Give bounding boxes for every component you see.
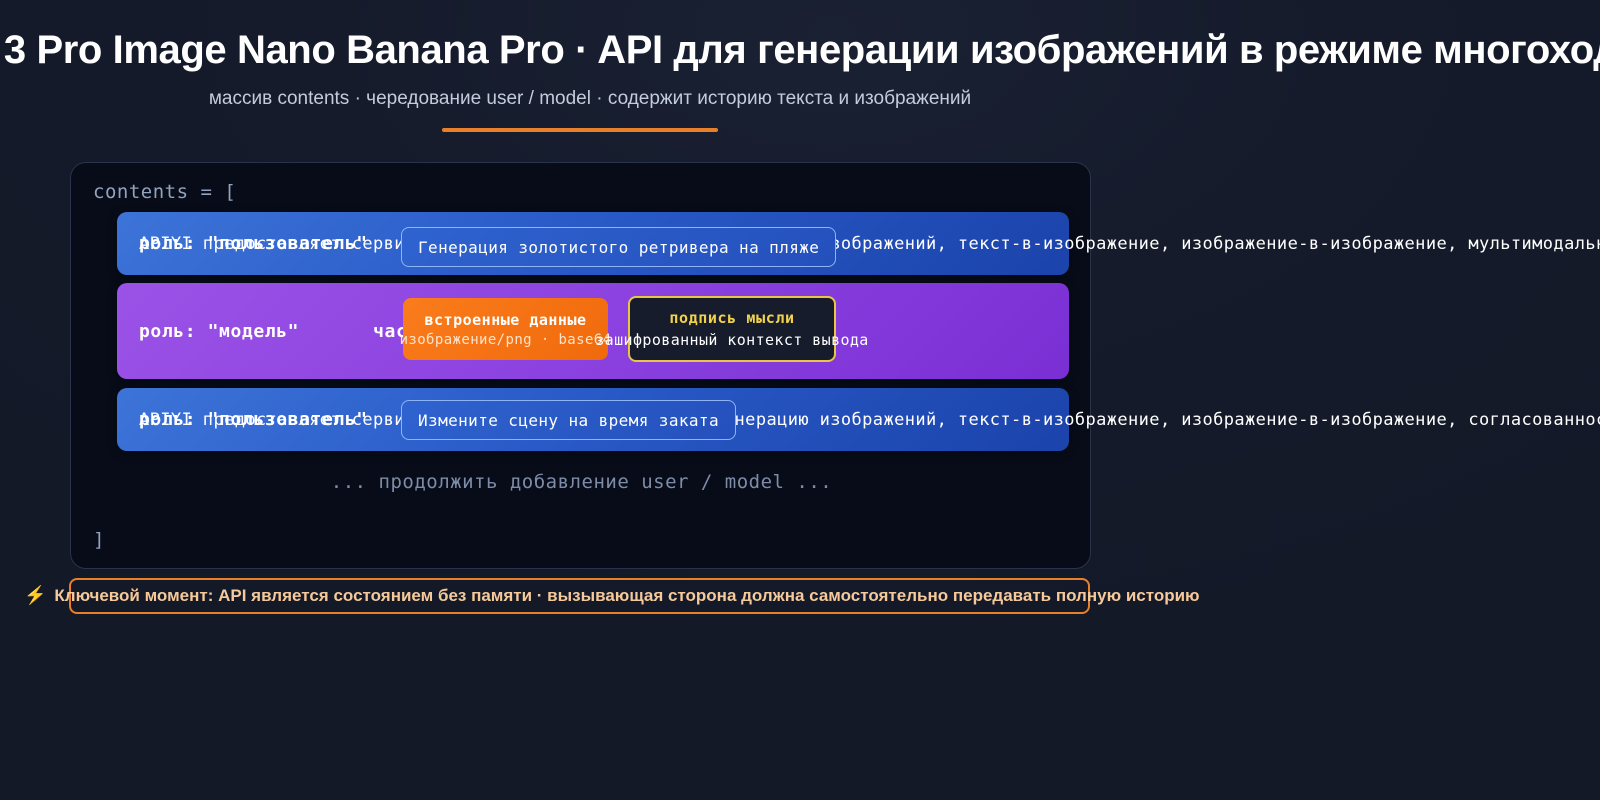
prompt-chip-1[interactable]: Генерация золотистого ретривера на пляже bbox=[401, 227, 836, 267]
inline-data-card[interactable]: встроенные данные изображение/png · base… bbox=[403, 298, 608, 360]
thought-signature-card[interactable]: подпись мысли зашифрованный контекст выв… bbox=[628, 296, 836, 362]
code-array-open: contents = [ bbox=[93, 181, 236, 203]
inline-data-subtitle: изображение/png · base64 bbox=[400, 332, 612, 348]
key-point-callout: ⚡ Ключевой момент: API является состояни… bbox=[24, 585, 1200, 606]
prompt-chip-2[interactable]: Измените сцену на время заката bbox=[401, 400, 736, 440]
slide-canvas: Gemini 3 Pro Image Nano Banana Pro · API… bbox=[0, 0, 1600, 800]
turn-meta-2: роль: "модель" части bbox=[139, 321, 430, 342]
code-array-close: ] bbox=[93, 529, 105, 551]
code-continuation-note: ... продолжить добавление user / model .… bbox=[71, 471, 1092, 493]
thought-signature-subtitle: зашифрованный контекст вывода bbox=[595, 331, 869, 349]
inline-data-title: встроенные данные bbox=[424, 311, 586, 329]
turn-role-label-1: роль: "пользователь" bbox=[139, 233, 368, 254]
lightning-bolt-icon: ⚡ bbox=[24, 585, 46, 606]
turn-role-label-2: роль: "модель" bbox=[139, 321, 299, 342]
turn-role-label-3: роль: "пользователь" bbox=[139, 409, 368, 430]
page-subtitle: массив contents · чередование user / mod… bbox=[0, 88, 1180, 110]
page-title: Gemini 3 Pro Image Nano Banana Pro · API… bbox=[0, 28, 1460, 73]
key-point-text: Ключевой момент: API является состоянием… bbox=[54, 586, 1199, 606]
thought-signature-title: подпись мысли bbox=[669, 309, 794, 327]
title-accent-rule bbox=[442, 128, 718, 132]
